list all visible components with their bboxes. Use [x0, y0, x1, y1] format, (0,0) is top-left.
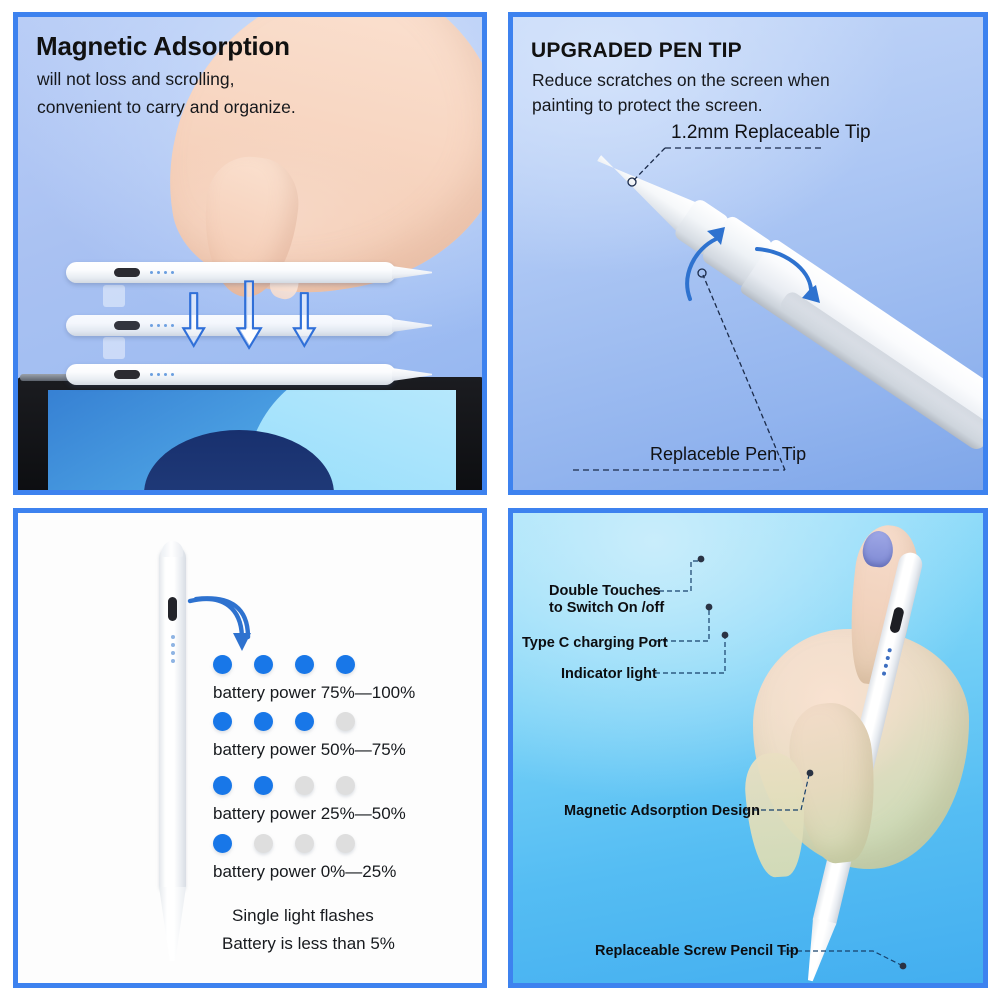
- battery-dot-row: [213, 712, 406, 731]
- infographic-sheet: Magnetic Adsorption will not loss and sc…: [0, 0, 1000, 1000]
- pen-tapered-tip: [159, 887, 186, 961]
- indicator-leds: [171, 635, 175, 663]
- hand-holding-pen-illustration: [719, 517, 983, 983]
- indicator-leds: [150, 373, 174, 376]
- battery-level-caption: battery power 25%—50%: [213, 804, 406, 824]
- battery-dot: [213, 655, 232, 674]
- battery-footer-line-2: Battery is less than 5%: [222, 934, 395, 954]
- battery-dot: [213, 712, 232, 731]
- page-title: Magnetic Adsorption: [36, 31, 290, 62]
- battery-level-group: battery power 25%—50%: [213, 776, 406, 824]
- stylus-pen-middle: [66, 315, 396, 336]
- label-double-touches: Double Touches to Switch On /off: [549, 583, 664, 617]
- panel-upgraded-pen-tip: UPGRADED PEN TIP Reduce scratches on the…: [508, 12, 988, 495]
- battery-dot: [336, 776, 355, 795]
- battery-dot: [295, 712, 314, 731]
- battery-level-caption: battery power 0%—25%: [213, 862, 396, 882]
- battery-level-group: battery power 0%—25%: [213, 834, 396, 882]
- magnet-contact-shadow: [103, 285, 125, 307]
- battery-dot: [336, 712, 355, 731]
- panel-magnetic-adsorption: Magnetic Adsorption will not loss and sc…: [13, 12, 487, 495]
- callout-replaceble-pen-tip: Replaceble Pen Tip: [650, 444, 806, 465]
- battery-dot: [213, 776, 232, 795]
- indicator-leds: [150, 271, 174, 274]
- label-type-c-charging-port: Type C charging Port: [522, 635, 668, 652]
- label-magnetic-adsorption-design: Magnetic Adsorption Design: [564, 803, 760, 820]
- battery-dot: [254, 655, 273, 674]
- battery-level-caption: battery power 50%—75%: [213, 740, 406, 760]
- magnetic-subtitle-line-1: will not loss and scrolling,: [37, 69, 234, 90]
- tablet-screen-wallpaper: [48, 390, 456, 490]
- pen-screw-tip: [799, 918, 837, 983]
- battery-dot-row: [213, 655, 415, 674]
- panel-feature-callouts: Double Touches to Switch On /off Type C …: [508, 508, 988, 988]
- callout-replaceable-tip-size: 1.2mm Replaceable Tip: [671, 122, 871, 144]
- battery-dot: [295, 776, 314, 795]
- usb-c-port-icon: [114, 370, 140, 379]
- battery-level-group: battery power 50%—75%: [213, 712, 406, 760]
- label-replaceable-screw-pencil-tip: Replaceable Screw Pencil Tip: [595, 943, 799, 960]
- battery-dot-row: [213, 834, 396, 853]
- usb-c-port-icon: [114, 268, 140, 277]
- pen-tip-title: UPGRADED PEN TIP: [531, 39, 742, 63]
- battery-footer-line-1: Single light flashes: [232, 906, 374, 926]
- battery-dot: [336, 655, 355, 674]
- battery-dot: [213, 834, 232, 853]
- battery-dot: [295, 834, 314, 853]
- label-line-2: to Switch On /off: [549, 600, 664, 617]
- battery-level-caption: battery power 75%—100%: [213, 683, 415, 703]
- label-line-1: Double Touches: [549, 583, 664, 600]
- battery-dot: [254, 712, 273, 731]
- usb-c-port-icon: [168, 597, 177, 621]
- indicator-leds: [150, 324, 174, 327]
- magnetic-subtitle-line-2: convenient to carry and organize.: [37, 97, 296, 118]
- battery-dot: [336, 834, 355, 853]
- battery-dot: [295, 655, 314, 674]
- stylus-pen-vertical-illustration: [159, 527, 186, 957]
- usb-c-port-icon: [114, 321, 140, 330]
- magnet-contact-shadow: [103, 337, 125, 359]
- pen-tip-subtitle-line-2: painting to protect the screen.: [532, 95, 763, 116]
- battery-level-group: battery power 75%—100%: [213, 655, 415, 703]
- pen-tip-subtitle-line-1: Reduce scratches on the screen when: [532, 70, 830, 91]
- battery-dot: [254, 776, 273, 795]
- stylus-pen-top: [66, 262, 396, 283]
- pen-cap: [162, 541, 183, 557]
- stylus-pen-bottom: [66, 364, 396, 385]
- label-indicator-light: Indicator light: [561, 666, 657, 683]
- battery-dot: [254, 834, 273, 853]
- battery-dot-row: [213, 776, 406, 795]
